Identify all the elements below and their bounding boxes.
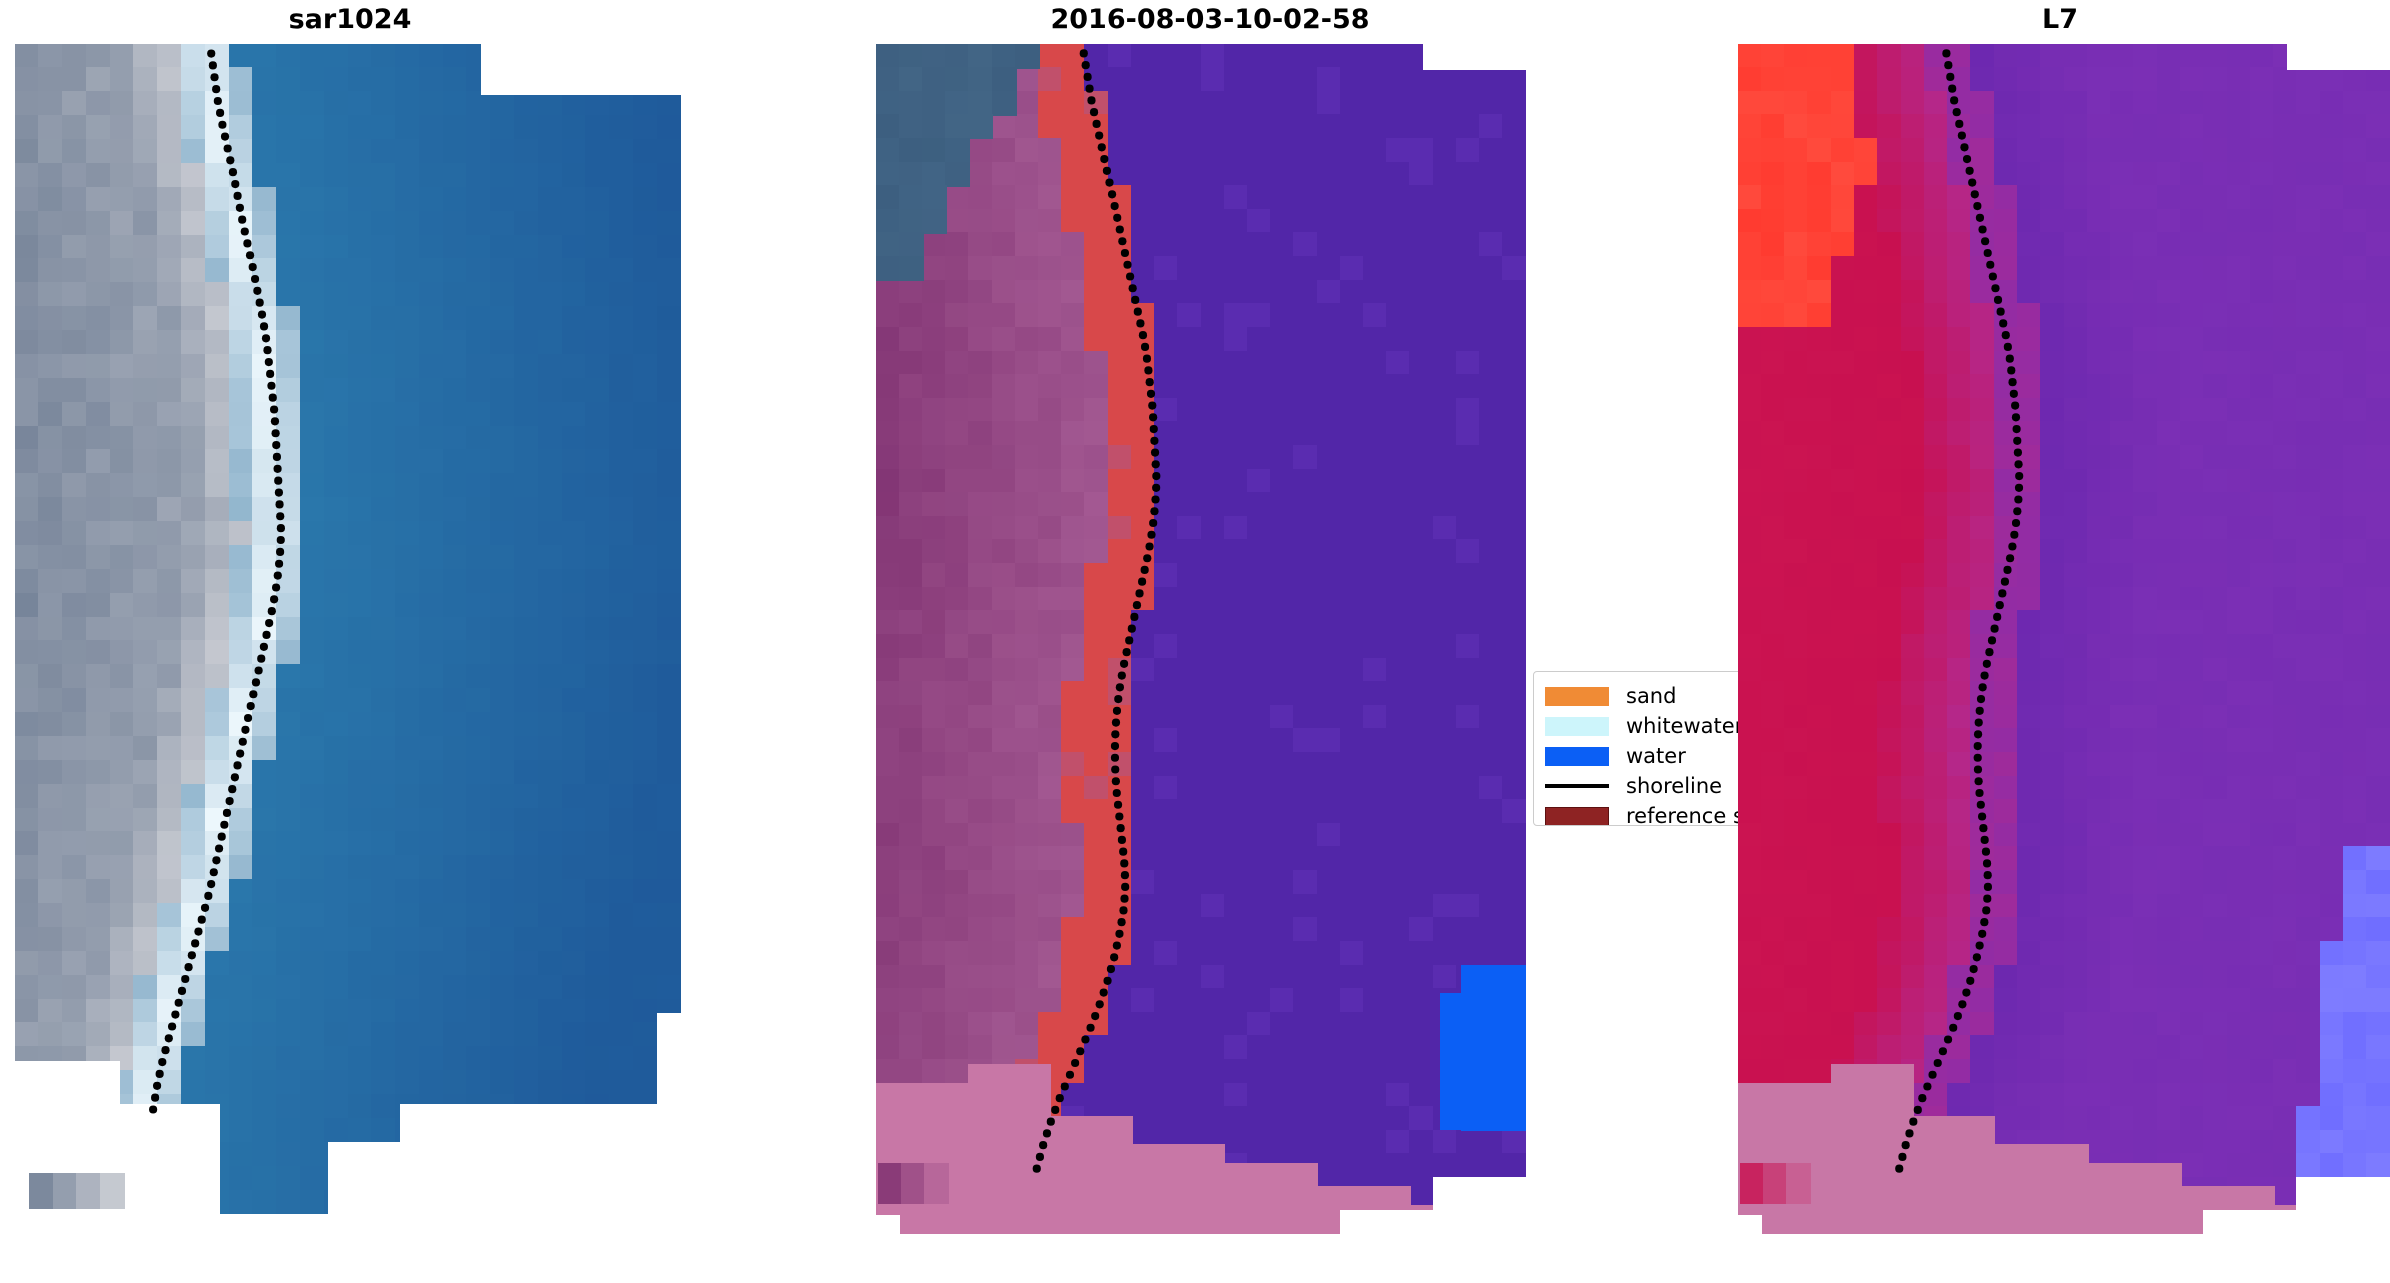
figure-root: sar1024 2016-08-03-10-02-58 L7 sand whit…	[0, 0, 2390, 1283]
legend-swatch-sand	[1545, 687, 1609, 706]
legend-label-water: water	[1626, 746, 1686, 767]
panel-image-wrap-sar1024	[15, 44, 681, 1214]
satellite-image-sar1024	[15, 44, 681, 1214]
legend-label-shoreline: shoreline	[1626, 776, 1722, 797]
legend-label-whitewater: whitewater	[1626, 716, 1743, 737]
l7-image-overlay	[1738, 44, 2390, 1272]
panel-title-classified: 2016-08-03-10-02-58	[860, 4, 1560, 35]
panel-title-l7: L7	[1730, 4, 2390, 35]
legend-label-sand: sand	[1626, 686, 1676, 707]
panel-image-wrap-l7	[1738, 44, 2390, 1272]
legend-swatch-water	[1545, 747, 1609, 766]
panel-title-sar1024: sar1024	[0, 4, 700, 35]
legend-swatch-whitewater	[1545, 717, 1609, 736]
legend-swatch-shoreline	[1545, 784, 1609, 788]
classified-image-overlay	[876, 44, 1526, 1272]
legend-swatch-reference-shoreline	[1545, 807, 1609, 826]
panel-image-wrap-classified	[876, 44, 1526, 1272]
